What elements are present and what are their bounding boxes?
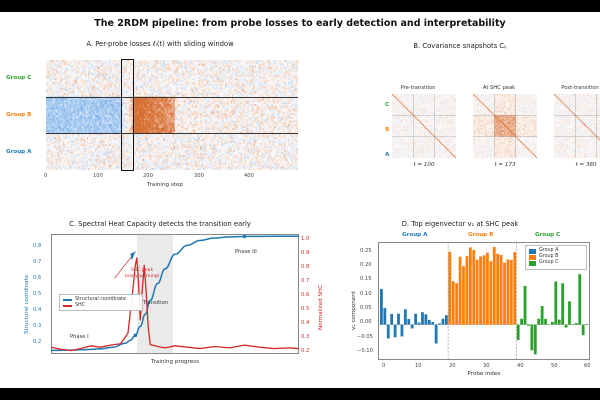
panel-c-xlabel: Training progress [51,359,299,365]
panel-d-legend-label-2: Group C [539,260,558,266]
panel-d-ytick-1: 0.20 [360,262,372,268]
panel-d-ytick-6: −0.05 [357,334,373,340]
panel-d-ytick-7: −0.10 [357,348,373,354]
panel-c-ytick-right-6: 0.4 [301,320,309,326]
panel-d-xtick-5: 50 [551,363,558,369]
panel-c-ylabel-left: Structural coordinate [24,275,30,334]
panel-c-title: C. Spectral Heat Capacity detects the tr… [0,220,320,228]
panel-d-xtick-0: 0 [382,363,385,369]
panel-c-ytick-right-2: 0.8 [301,264,309,270]
figure-canvas: The 2RDM pipeline: from probe losses to … [0,12,600,388]
panel-d-xlabel: Probe index [378,371,590,377]
panel-c-ytick-left-4: 0.4 [33,307,41,313]
panel-b-title: B. Covariance snapshots Cᵢⱼ [320,42,600,50]
panel-d-legend[interactable]: Group A Group B Group C [525,245,587,270]
panel-c-legend-item-1[interactable]: SHC [63,303,139,309]
shc-swatch [63,305,72,307]
panel-b-header-2: Post-transition [544,85,600,91]
panel-d-xtick-1: 10 [415,363,422,369]
panel-a: A. Per-probe losses ℓᵢ(t) with sliding w… [0,38,320,198]
panel-a-xtick-4: 400 [244,173,254,179]
panel-d-legend-item-2[interactable]: Group C [529,260,583,266]
panel-b-row-label-c: C [385,102,389,108]
panel-c-ytick-left-6: 0.2 [33,339,41,345]
panel-a-xlabel: Training step [0,182,330,188]
panel-d: D. Top eigenvector v₁ at SHC peak Group … [320,202,600,388]
panel-d-group-header-c: Group C [535,232,560,238]
panel-b-time-1: t = 173 [473,162,537,168]
panel-b-time-0: t = 100 [392,162,456,168]
panel-c: C. Spectral Heat Capacity detects the tr… [0,202,320,388]
figure-title: The 2RDM pipeline: from probe losses to … [0,18,600,29]
panel-d-xtick-2: 20 [449,363,456,369]
panel-c-ytick-left-1: 0.7 [33,259,41,265]
panel-c-ytick-right-7: 0.3 [301,334,309,340]
panel-c-ytick-right-3: 0.7 [301,278,309,284]
panel-a-xtick-0: 0 [44,173,47,179]
panel-c-ytick-left-5: 0.3 [33,323,41,329]
panel-b: B. Covariance snapshots Cᵢⱼ Pre-transiti… [320,38,600,198]
panel-c-ytick-right-8: 0.2 [301,348,309,354]
annotation-phase-three: Phase III [235,249,257,255]
panel-d-ylabel: v₁ component [351,291,357,330]
structural-coordinate-swatch [63,299,72,301]
panel-b-row-label-a: A [385,152,389,158]
panel-c-ytick-left-0: 0.8 [33,243,41,249]
panel-c-legend[interactable]: Structural coordinate SHC [59,294,143,311]
panel-d-ytick-0: 0.25 [360,248,372,254]
panel-a-xtick-2: 200 [143,173,153,179]
panel-a-xtick-3: 300 [194,173,204,179]
annotation-phase-one: Phase I [70,334,89,340]
panel-c-ytick-right-0: 1.0 [301,236,309,242]
panel-c-ytick-right-4: 0.6 [301,292,309,298]
panel-a-group-label-b: Group B [6,112,31,118]
panel-d-ytick-2: 0.15 [360,276,372,282]
covariance-matrix-post-transition [554,94,600,158]
panel-b-header-0: Pre-transition [382,85,454,91]
panel-d-title: D. Top eigenvector v₁ at SHC peak [320,220,600,228]
panel-d-ytick-4: 0.05 [360,305,372,311]
panel-c-ytick-right-5: 0.5 [301,306,309,312]
panel-d-ytick-3: 0.10 [360,291,372,297]
panel-a-title: A. Per-probe losses ℓᵢ(t) with sliding w… [0,40,320,48]
panel-c-legend-label-1: SHC [75,303,85,309]
annotation-transition: Transition [143,300,168,306]
panel-a-xtick-1: 100 [93,173,103,179]
panel-a-group-label-c: Group C [6,75,31,81]
group-b-swatch [529,255,536,260]
panel-b-time-2: t = 380 [554,162,600,168]
group-c-swatch [529,261,536,266]
panel-c-ytick-left-3: 0.5 [33,291,41,297]
group-divider-cb [46,97,298,98]
panel-d-ytick-5: 0.00 [360,319,372,325]
panel-d-xtick-6: 60 [584,363,591,369]
panel-b-row-label-b: B [385,127,389,133]
panel-d-group-header-b: Group B [468,232,493,238]
panel-c-ytick-right-1: 0.9 [301,250,309,256]
panel-c-ytick-left-2: 0.6 [33,275,41,281]
group-a-swatch [529,249,536,254]
panel-b-header-1: At SHC peak [463,85,535,91]
annotation-shc-peak-line1: SHC peak [113,268,171,274]
sliding-window-box[interactable] [121,59,134,171]
covariance-matrix-pre-transition [392,94,456,158]
panel-d-xtick-3: 30 [483,363,490,369]
per-probe-loss-heatmap [46,60,298,170]
covariance-matrix-at-shc-peak [473,94,537,158]
panel-a-group-label-a: Group A [6,149,31,155]
panel-d-group-header-a: Group A [402,232,427,238]
panel-d-xtick-4: 40 [517,363,524,369]
annotation-shc-peak-line2: (early warning) [113,274,171,280]
group-divider-ba [46,133,298,134]
